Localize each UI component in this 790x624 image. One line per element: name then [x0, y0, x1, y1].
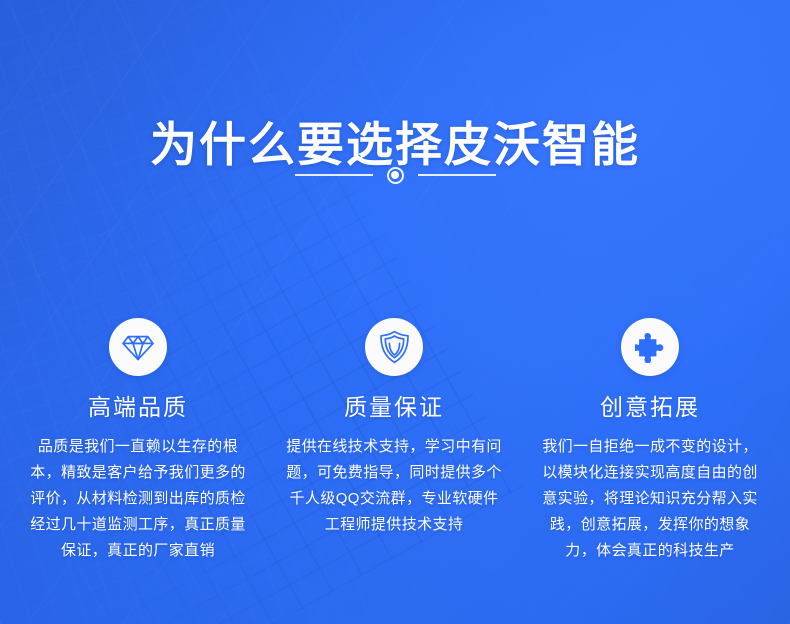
divider-inner-dot — [391, 171, 399, 179]
feature-title: 高端品质 — [88, 394, 188, 422]
feature-title: 创意拓展 — [600, 394, 700, 422]
feature-description: 我们一自拒绝一成不变的设计，以模块化连接实现高度自由的创意实验，将理论知识充分帮… — [541, 434, 759, 564]
feature-card-guarantee: 质量保证 提供在线技术支持，学习中有问题，可免费指导，同时提供多个千人级QQ交流… — [268, 318, 520, 564]
feature-list: 高端品质 品质是我们一直赖以生存的根本，精致是客户给予我们更多的评价，从材料检测… — [0, 318, 790, 564]
feature-card-quality: 高端品质 品质是我们一直赖以生存的根本，精致是客户给予我们更多的评价，从材料检测… — [12, 318, 264, 564]
feature-icon-badge — [621, 318, 679, 376]
divider-line-right — [418, 174, 496, 176]
feature-description: 提供在线技术支持，学习中有问题，可免费指导，同时提供多个千人级QQ交流群，专业软… — [285, 434, 503, 538]
feature-card-creativity: 创意拓展 我们一自拒绝一成不变的设计，以模块化连接实现高度自由的创意实验，将理论… — [524, 318, 776, 564]
circle-dot-icon — [387, 167, 404, 184]
title-divider — [0, 160, 790, 190]
feature-icon-badge — [109, 318, 167, 376]
feature-description: 品质是我们一直赖以生存的根本，精致是客户给予我们更多的评价，从材料检测到出库的质… — [29, 434, 247, 564]
puzzle-icon — [635, 332, 666, 363]
promo-banner: 为什么要选择皮沃智能 — [0, 0, 790, 624]
diamond-icon — [122, 332, 154, 362]
feature-title: 质量保证 — [344, 394, 444, 422]
feature-icon-badge — [365, 318, 423, 376]
shield-icon — [379, 330, 410, 364]
divider-line-left — [295, 174, 373, 176]
